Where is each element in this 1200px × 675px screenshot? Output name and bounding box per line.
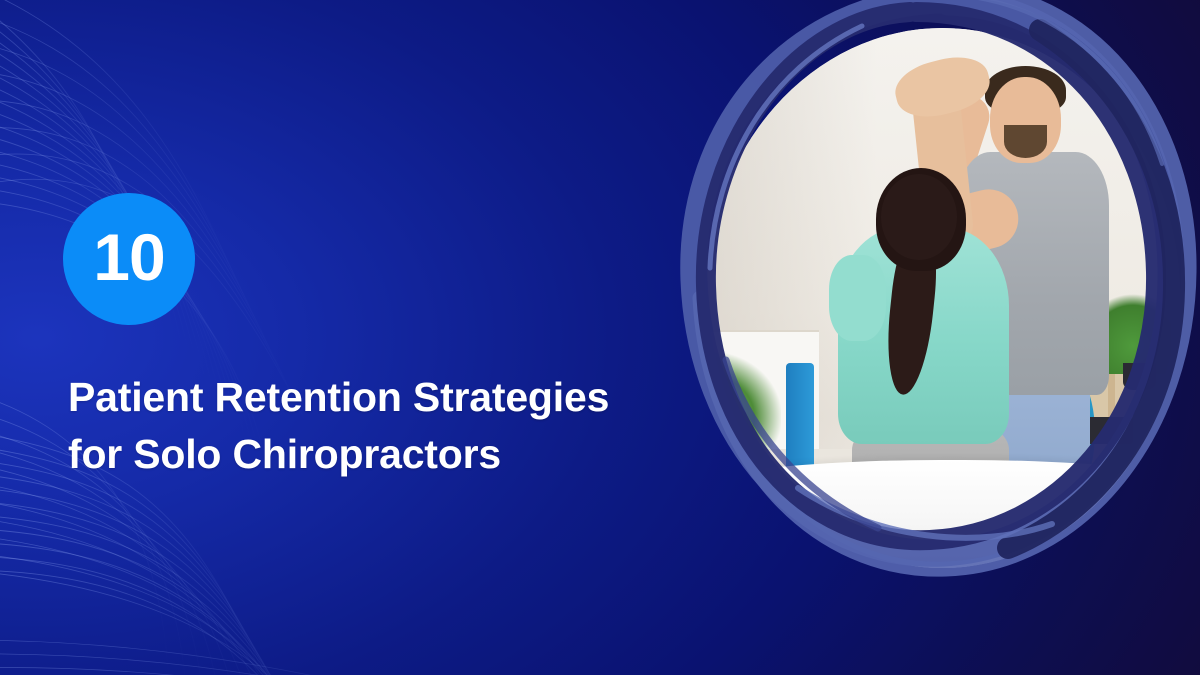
badge-number-label: 10	[93, 224, 164, 290]
page-title: Patient Retention Strategies for Solo Ch…	[68, 369, 643, 482]
number-badge: 10	[63, 193, 195, 325]
text-column: 10 Patient Retention Strategies for Solo…	[68, 0, 668, 675]
slide-canvas: 10 Patient Retention Strategies for Solo…	[0, 0, 1200, 675]
brush-ring-frame	[648, 0, 1200, 588]
